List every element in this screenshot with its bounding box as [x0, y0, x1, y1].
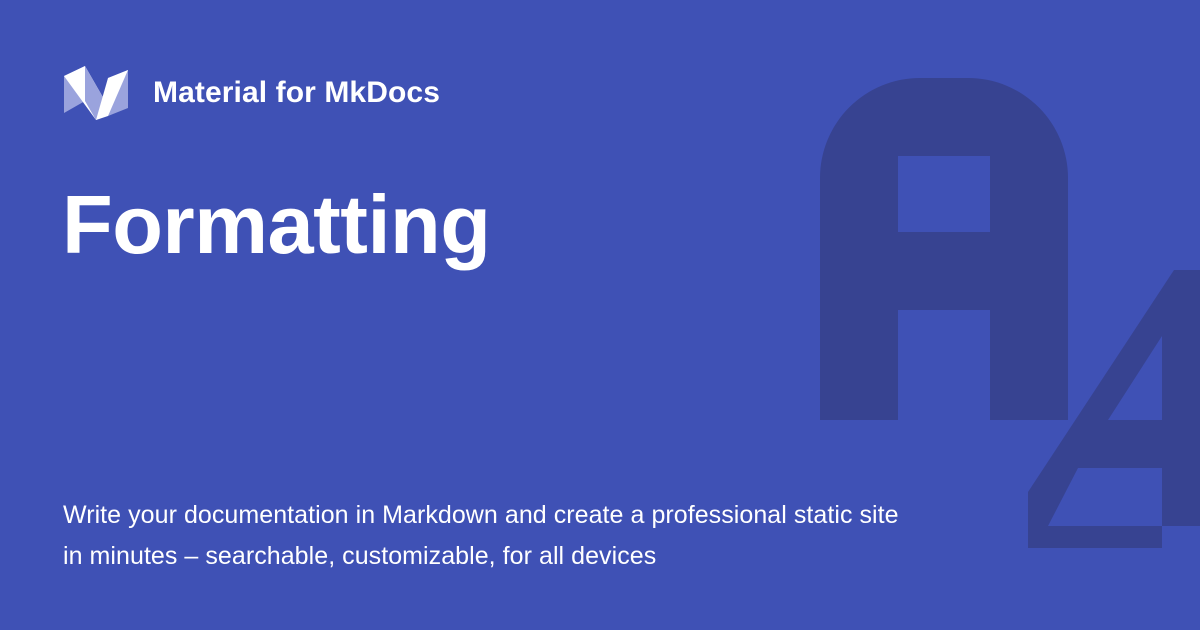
social-card: Material for MkDocs Formatting Write you…	[0, 0, 1200, 630]
tagline: Write your documentation in Markdown and…	[63, 495, 893, 576]
page-title: Formatting	[62, 180, 490, 270]
material-mkdocs-logo-icon	[64, 66, 128, 120]
tagline-line-2: in minutes – searchable, customizable, f…	[63, 536, 893, 577]
brand-header: Material for MkDocs	[64, 66, 440, 120]
tagline-line-1: Write your documentation in Markdown and…	[63, 495, 893, 536]
brand-name: Material for MkDocs	[153, 78, 440, 108]
